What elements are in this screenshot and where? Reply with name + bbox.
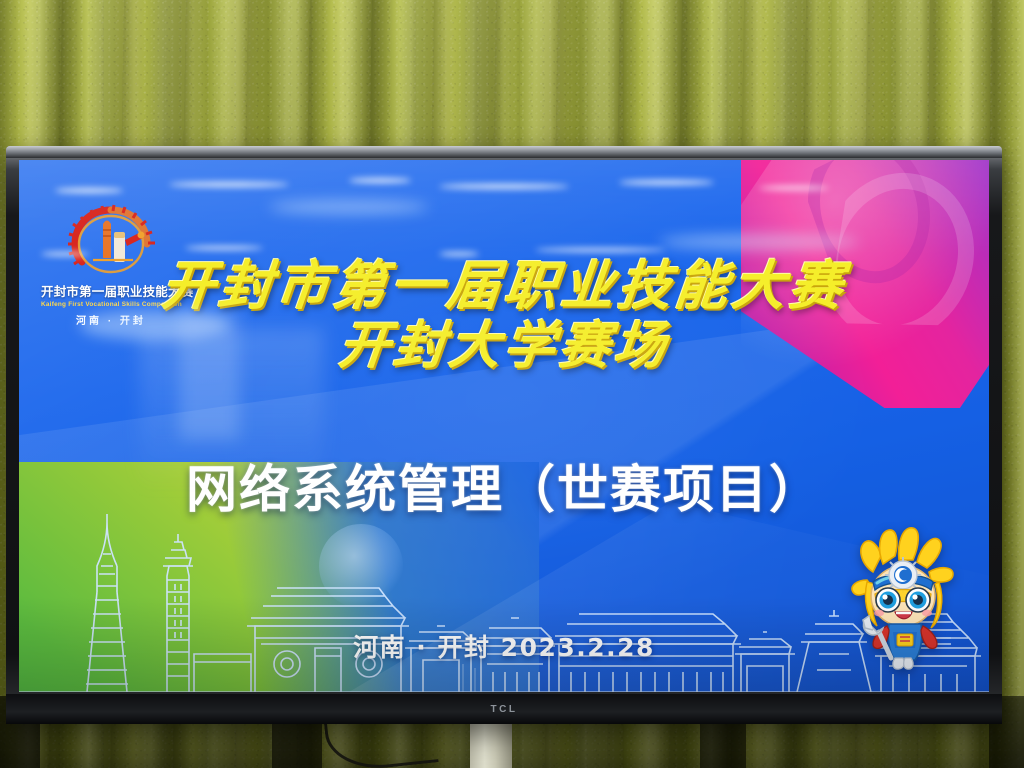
- slide-subtitle: 网络系统管理（世赛项目）: [19, 448, 989, 522]
- headline-line-1: 开封市第一届职业技能大赛: [19, 258, 989, 315]
- headline-block: 开封市第一届职业技能大赛 开封大学赛场: [19, 258, 989, 373]
- headline-line-2: 开封大学赛场: [19, 319, 989, 374]
- tv-brand-logo: TCL: [491, 704, 518, 715]
- mascot-illustration: [839, 520, 967, 670]
- television-set: 开封市第一届职业技能大赛 Kaifeng First Vocational Sk…: [6, 146, 1002, 724]
- tv-frame-top-highlight: [6, 146, 1002, 158]
- tv-bottom-bezel: TCL: [6, 694, 1002, 724]
- tv-screen: 开封市第一届职业技能大赛 Kaifeng First Vocational Sk…: [19, 160, 989, 692]
